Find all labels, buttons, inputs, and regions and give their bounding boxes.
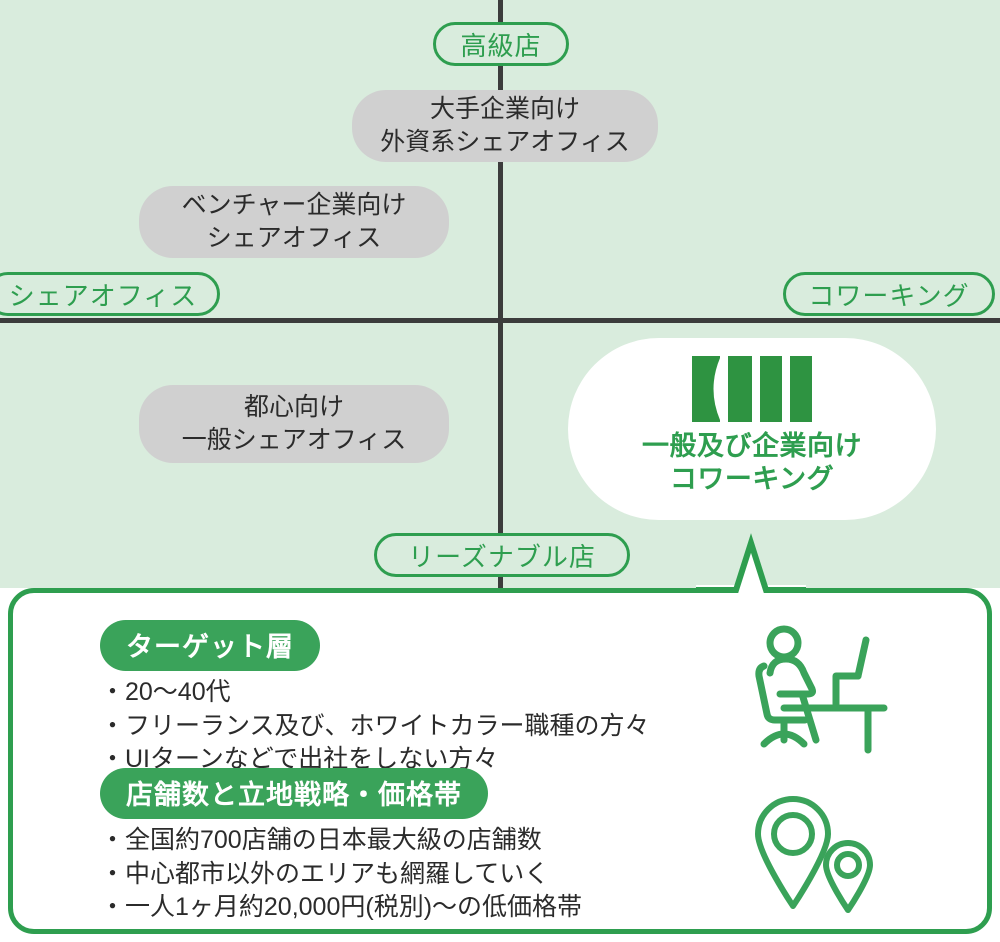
axis-label-reasonable: リーズナブル店 [374, 533, 630, 577]
axis-label-premium: 高級店 [433, 22, 569, 66]
list-item: ・全国約700店舗の日本最大級の店舗数 [100, 824, 582, 858]
vertical-axis-line [498, 0, 503, 588]
section-badge-stores: 店舗数と立地戦略・価格帯 [100, 768, 488, 819]
list-item: ・中心都市以外のエリアも網羅していく [100, 858, 582, 892]
matrix-box-urban-general: 都心向け 一般シェアオフィス [139, 385, 449, 463]
matrix-box-line-2: 一般シェアオフィス [182, 424, 407, 457]
axis-label-share-office: シェアオフィス [0, 272, 220, 316]
four-bars-logo [690, 356, 814, 422]
axis-label-coworking: コワーキング [783, 272, 995, 316]
map-pins-icon [748, 792, 886, 924]
highlight-bubble-label: 一般及び企業向け コワーキング [642, 430, 862, 496]
matrix-box-line-2: シェアオフィス [207, 222, 382, 255]
target-bullet-list: ・20〜40代 ・フリーランス及び、ホワイトカラー職種の方々 ・UIターンなどで… [100, 676, 650, 777]
list-item: ・20〜40代 [100, 676, 650, 710]
panel-pointer-notch [696, 519, 806, 595]
highlight-bubble-coworking: 一般及び企業向け コワーキング [568, 338, 936, 520]
section-badge-target: ターゲット層 [100, 620, 320, 671]
stores-bullet-list: ・全国約700店舗の日本最大級の店舗数 ・中心都市以外のエリアも網羅していく ・… [100, 824, 582, 925]
positioning-matrix: 高級店 シェアオフィス コワーキング リーズナブル店 大手企業向け 外資系シェア… [0, 0, 1000, 588]
matrix-box-line-1: ベンチャー企業向け [182, 189, 407, 222]
matrix-box-major-corporate: 大手企業向け 外資系シェアオフィス [352, 90, 658, 162]
matrix-box-line-1: 大手企業向け [430, 93, 580, 126]
matrix-box-line-2: 外資系シェアオフィス [380, 126, 630, 159]
list-item: ・フリーランス及び、ホワイトカラー職種の方々 [100, 710, 650, 744]
panel-section-stores: 店舗数と立地戦略・価格帯 ・全国約700店舗の日本最大級の店舗数 ・中心都市以外… [100, 768, 582, 925]
person-at-desk-icon [740, 618, 890, 760]
list-item: ・一人1ヶ月約20,000円(税別)〜の低価格帯 [100, 891, 582, 925]
matrix-box-venture: ベンチャー企業向け シェアオフィス [139, 186, 449, 258]
matrix-box-line-1: 都心向け [244, 391, 344, 424]
horizontal-axis-line [0, 318, 1000, 323]
panel-section-target: ターゲット層 ・20〜40代 ・フリーランス及び、ホワイトカラー職種の方々 ・U… [100, 620, 650, 777]
